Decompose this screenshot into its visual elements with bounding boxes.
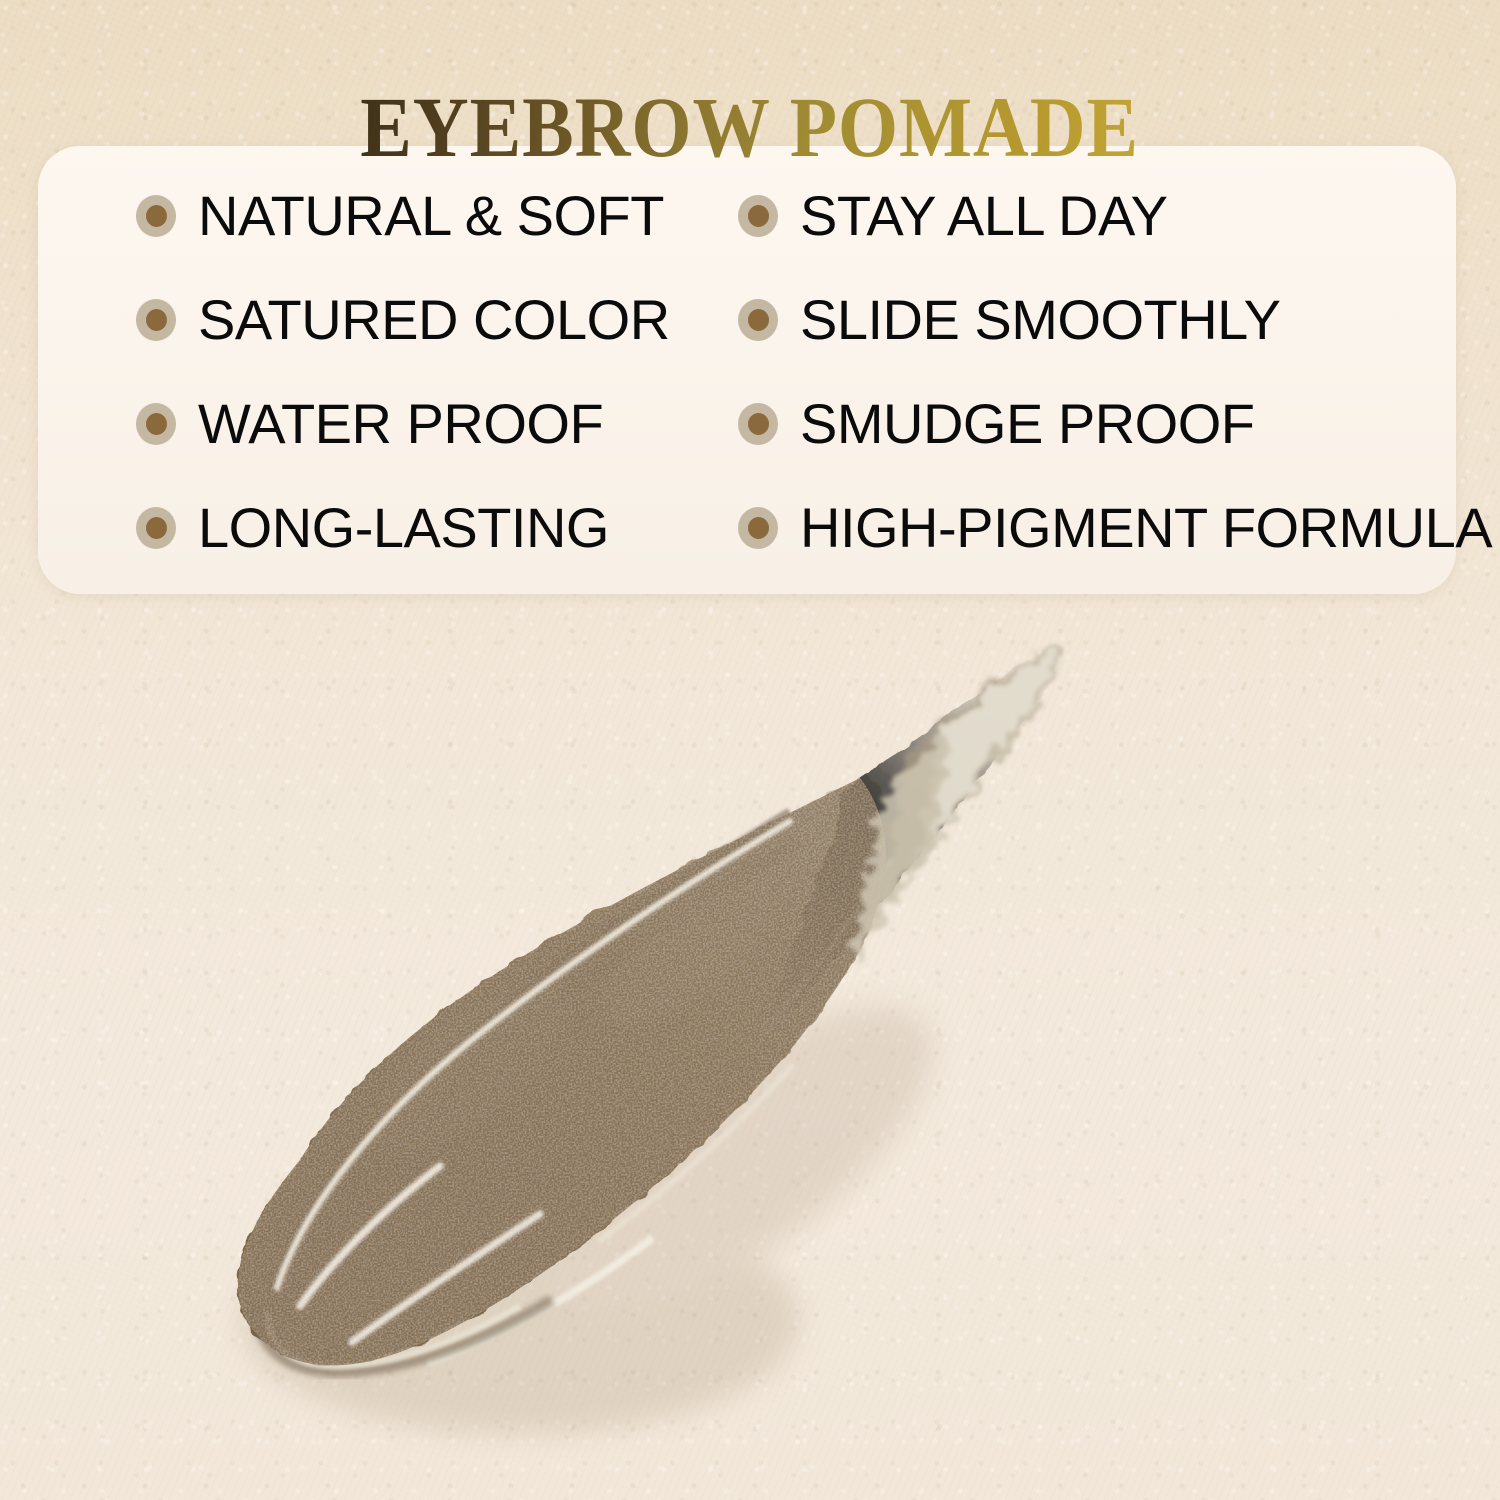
feature-label: LONG-LASTING xyxy=(198,500,609,556)
feature-item-satured-color: SATURED COLOR xyxy=(38,268,738,372)
feature-label: SLIDE SMOOTHLY xyxy=(800,292,1281,348)
bullet-dot-icon xyxy=(738,299,778,341)
bullet-dot-icon xyxy=(738,403,778,445)
feature-item-slide-smoothly: SLIDE SMOOTHLY xyxy=(738,268,1456,372)
feature-label: SATURED COLOR xyxy=(198,292,670,348)
bullet-dot-icon xyxy=(738,507,778,549)
feature-item-smudge-proof: SMUDGE PROOF xyxy=(738,372,1456,476)
feature-item-water-proof: WATER PROOF xyxy=(38,372,738,476)
product-graphic: EYEBROW POMADE NATURAL & SOFT STAY ALL D… xyxy=(0,0,1500,1500)
page-title: EYEBROW POMADE xyxy=(361,82,1140,172)
feature-item-long-lasting: LONG-LASTING xyxy=(38,476,738,580)
title-container: EYEBROW POMADE xyxy=(0,24,1500,230)
bullet-dot-icon xyxy=(136,299,176,341)
pomade-smear-illustration xyxy=(0,600,1500,1500)
bullet-dot-icon xyxy=(136,507,176,549)
feature-label: SMUDGE PROOF xyxy=(800,396,1254,452)
feature-label: HIGH-PIGMENT FORMULA xyxy=(800,500,1492,556)
bullet-dot-icon xyxy=(136,403,176,445)
feature-label: WATER PROOF xyxy=(198,396,603,452)
feature-item-high-pigment-formula: HIGH-PIGMENT FORMULA xyxy=(738,476,1456,580)
pomade-swatch xyxy=(0,600,1500,1500)
